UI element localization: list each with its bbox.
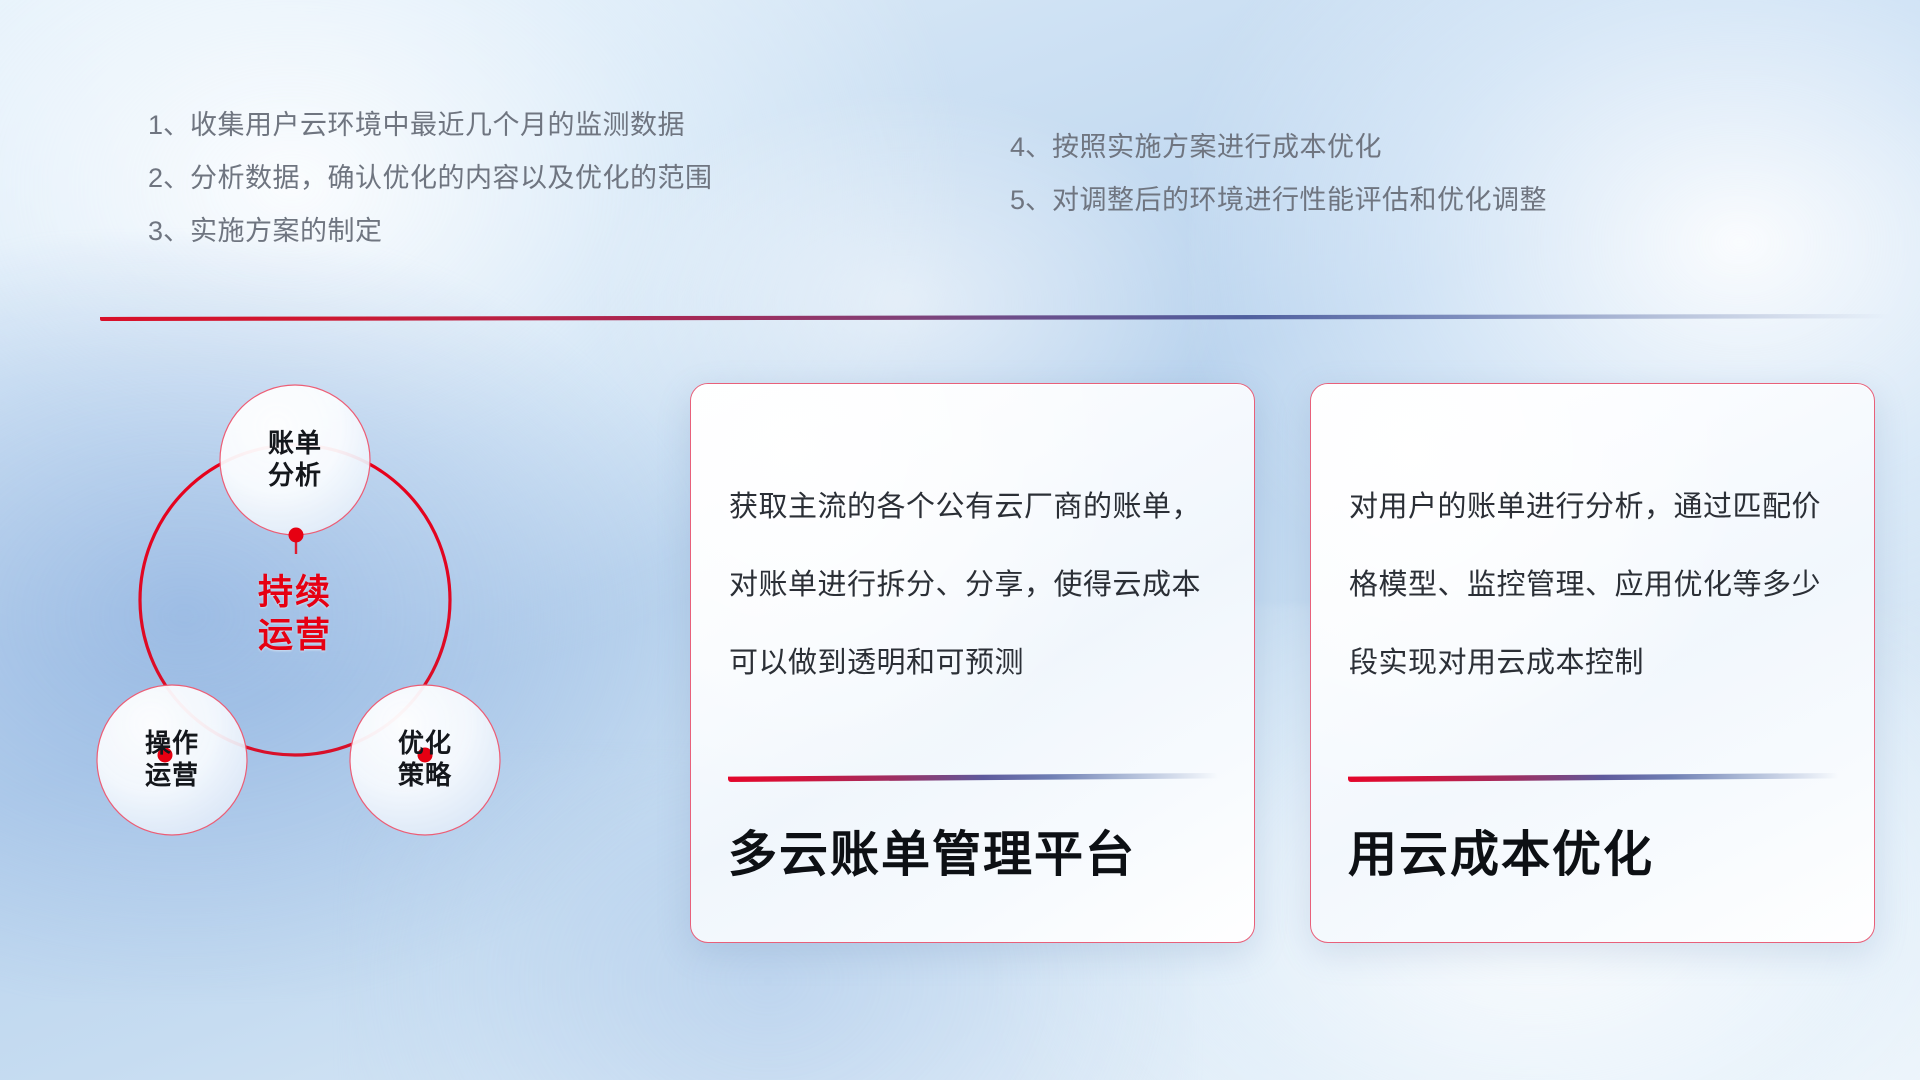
- process-step-number: 5、: [1010, 185, 1052, 215]
- feature-card-title: 多云账单管理平台: [728, 815, 1136, 886]
- feature-card-cloud-cost-optimization[interactable]: 对用户的账单进行分析，通过匹配价格模型、监控管理、应用优化等多少段实现对用云成本…: [1310, 383, 1875, 943]
- venn-node-dot-bottom-right: [418, 748, 433, 763]
- feature-card-title: 用云成本优化: [1348, 815, 1654, 886]
- feature-card-divider: [1348, 773, 1838, 782]
- process-step-item: 1、收集用户云环境中最近几个月的监测数据: [148, 99, 713, 152]
- feature-card-multi-cloud-billing-platform[interactable]: 获取主流的各个公有云厂商的账单，对账单进行拆分、分享，使得云成本可以做到透明和可…: [690, 383, 1255, 943]
- feature-card-divider: [728, 773, 1218, 782]
- header-divider-gradient: [100, 314, 1890, 321]
- process-step-text: 分析数据，确认优化的内容以及优化的范围: [190, 163, 713, 193]
- process-step-item: 4、按照实施方案进行成本优化: [1010, 121, 1547, 174]
- venn-node-dot-bottom-left: [158, 748, 173, 763]
- process-step-text: 按照实施方案进行成本优化: [1052, 132, 1382, 162]
- process-step-number: 3、: [148, 216, 190, 246]
- feature-card-body: 对用户的账单进行分析，通过匹配价格模型、监控管理、应用优化等多少段实现对用云成本…: [1349, 468, 1840, 702]
- process-step-number: 1、: [148, 110, 190, 140]
- process-step-item: 5、对调整后的环境进行性能评估和优化调整: [1010, 174, 1547, 227]
- process-step-text: 对调整后的环境进行性能评估和优化调整: [1052, 185, 1547, 215]
- process-steps-left-column: 1、收集用户云环境中最近几个月的监测数据 2、分析数据，确认优化的内容以及优化的…: [148, 99, 713, 258]
- process-step-text: 实施方案的制定: [190, 216, 383, 246]
- continuous-operation-diagram: 账单 分析 操作 运营 优化 策略 持续 运营: [80, 350, 600, 910]
- process-step-item: 3、实施方案的制定: [148, 205, 713, 258]
- process-steps: 1、收集用户云环境中最近几个月的监测数据 2、分析数据，确认优化的内容以及优化的…: [0, 0, 1920, 250]
- process-steps-right-column: 4、按照实施方案进行成本优化 5、对调整后的环境进行性能评估和优化调整: [1010, 121, 1547, 227]
- process-step-text: 收集用户云环境中最近几个月的监测数据: [190, 110, 685, 140]
- venn-diagram-svg: [80, 350, 600, 910]
- header-divider: [100, 314, 1890, 321]
- feature-card-body: 获取主流的各个公有云厂商的账单，对账单进行拆分、分享，使得云成本可以做到透明和可…: [729, 468, 1220, 702]
- feature-cards: 获取主流的各个公有云厂商的账单，对账单进行拆分、分享，使得云成本可以做到透明和可…: [690, 383, 1875, 943]
- venn-bubble-ops-operation: [97, 685, 247, 835]
- venn-bubble-bill-analysis: [220, 385, 370, 535]
- process-step-number: 2、: [148, 163, 190, 193]
- process-step-number: 4、: [1010, 132, 1052, 162]
- process-step-item: 2、分析数据，确认优化的内容以及优化的范围: [148, 152, 713, 205]
